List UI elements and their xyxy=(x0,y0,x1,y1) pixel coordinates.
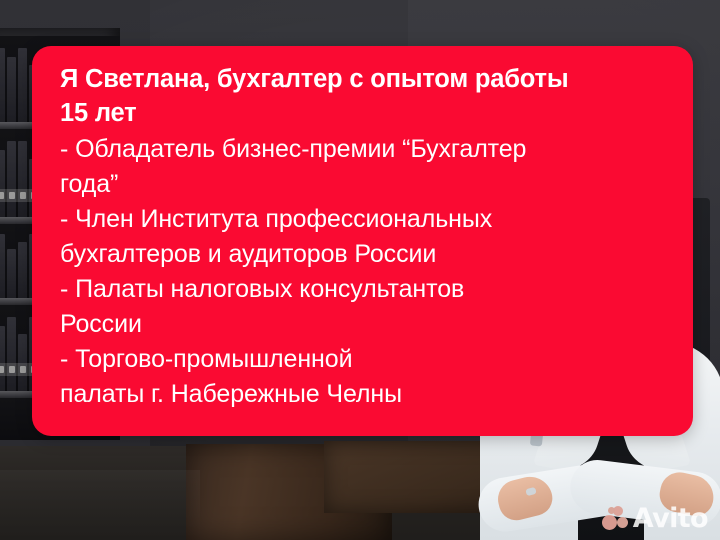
red-info-card: Я Светлана, бухгалтер с опытом работы 15… xyxy=(32,46,693,436)
card-headline: Я Светлана, бухгалтер с опытом работы 15… xyxy=(60,62,687,130)
card-text-block: Я Светлана, бухгалтер с опытом работы 15… xyxy=(60,62,687,412)
avito-wordmark: Avito xyxy=(633,505,708,532)
avito-dots-icon xyxy=(602,506,628,532)
listing-image: Я Светлана, бухгалтер с опытом работы 15… xyxy=(0,0,720,540)
card-credentials-list: - Обладатель бизнес-премии “Бухгалтер го… xyxy=(60,132,687,412)
floor-sheen xyxy=(0,470,200,540)
avito-watermark: Avito xyxy=(602,505,708,532)
